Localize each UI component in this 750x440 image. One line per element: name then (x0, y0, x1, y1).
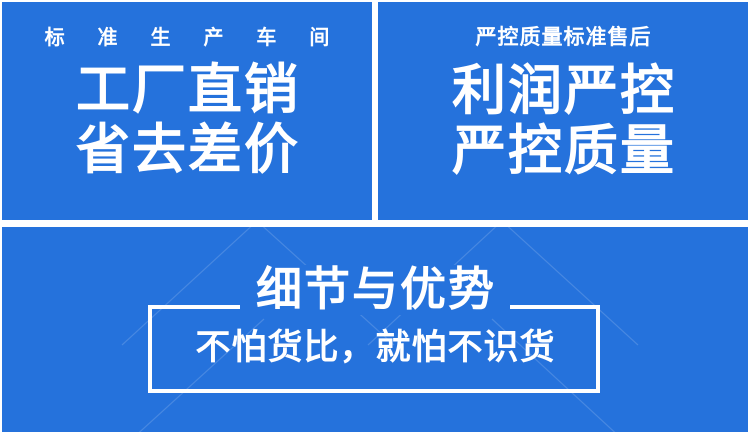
left-panel-eyebrow: 标 准 生 产 车 间 (32, 27, 343, 47)
panel-factory-direct-content: 标 准 生 产 车 间 工厂直销 省去差价 (2, 2, 372, 220)
left-panel-headline-line1: 工厂直销 (74, 61, 300, 119)
bottom-panel-title: 细节与优势 (240, 265, 510, 315)
right-panel-eyebrow: 严控质量标准售后 (475, 27, 652, 48)
panel-quality-control: 严控质量标准售后 利润严控 严控质量 (378, 2, 748, 220)
right-panel-headline-line1: 利润严控 (450, 62, 676, 120)
bottom-title-container: 细节与优势 (2, 265, 748, 315)
bottom-panel-subtitle: 不怕货比，就怕不识货 (194, 331, 555, 366)
panel-quality-control-content: 严控质量标准售后 利润严控 严控质量 (378, 2, 748, 220)
promo-banner: 标 准 生 产 车 间 工厂直销 省去差价 严控质量标准售后 利润严控 严控质量 (0, 0, 750, 440)
right-panel-headline-line2: 严控质量 (450, 122, 676, 180)
panel-factory-direct: 标 准 生 产 车 间 工厂直销 省去差价 (2, 2, 372, 220)
left-panel-headline-line2: 省去差价 (74, 121, 300, 179)
bottom-subtitle-container: 不怕货比，就怕不识货 (2, 331, 748, 366)
panel-details-advantages: 细节与优势 不怕货比，就怕不识货 (2, 227, 748, 432)
